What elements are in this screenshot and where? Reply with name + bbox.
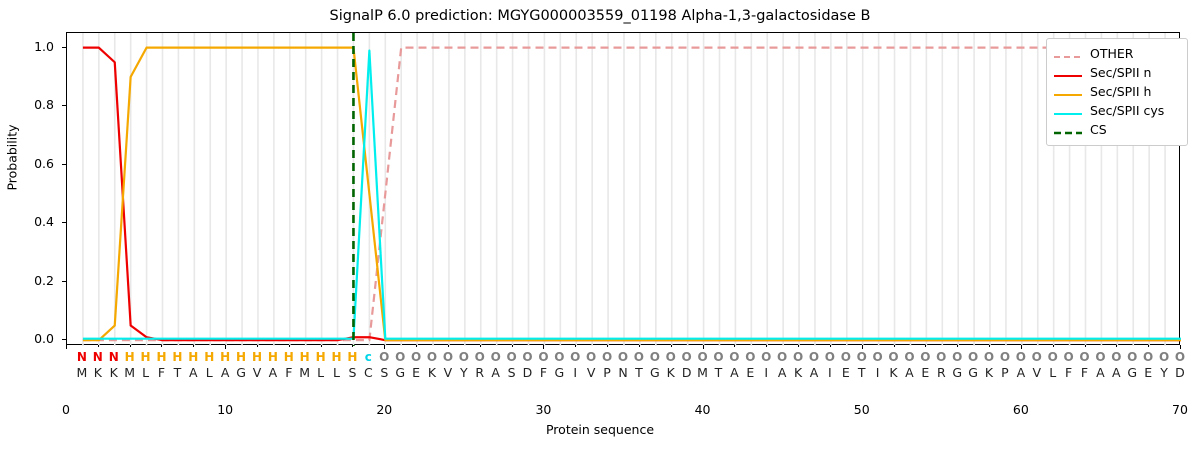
sequence-residue: M [297,365,313,380]
signalp-prediction-figure: SignalP 6.0 prediction: MGYG000003559_01… [0,0,1200,450]
region-marker: O [822,350,838,364]
x-tick-minor [607,345,608,347]
x-tick-minor [925,345,926,347]
region-marker: H [201,350,217,364]
x-tick-mark [384,345,385,349]
y-tick-label: 0.2 [8,273,54,288]
region-marker: O [679,350,695,364]
sequence-residue: G [233,365,249,380]
x-tick-minor [894,345,895,347]
x-tick-mark [66,345,67,349]
sequence-residue: G [949,365,965,380]
x-tick-minor [957,345,958,347]
sequence-residue: E [742,365,758,380]
x-axis-label: Protein sequence [0,422,1200,437]
x-tick-mark [1021,345,1022,349]
x-tick-mark [543,345,544,349]
legend-swatch-cs [1053,124,1083,136]
x-tick-minor [321,345,322,347]
x-tick-minor [98,345,99,347]
region-marker: O [695,350,711,364]
sequence-residue: P [997,365,1013,380]
sequence-residue: I [758,365,774,380]
x-tick-minor [257,345,258,347]
sequence-residue: L [329,365,345,380]
sequence-residue: M [695,365,711,380]
region-marker: O [1172,350,1188,364]
sequence-residue: T [631,365,647,380]
y-tick-mark [62,164,66,165]
x-tick-mark [862,345,863,349]
x-tick-minor [416,345,417,347]
series-sec-spii-h [83,48,1181,341]
region-marker: O [504,350,520,364]
region-marker: O [440,350,456,364]
sequence-residue: L [138,365,154,380]
legend-label-secspii-n: Sec/SPII n [1090,65,1151,80]
x-tick-minor [798,345,799,347]
region-marker: H [281,350,297,364]
sequence-residue: K [981,365,997,380]
region-marker: O [599,350,615,364]
region-marker: O [965,350,981,364]
region-marker: O [1029,350,1045,364]
legend-item-secspii-h[interactable]: Sec/SPII h [1053,82,1181,101]
y-tick-mark [62,222,66,223]
region-marker: O [551,350,567,364]
sequence-residue: D [679,365,695,380]
legend-swatch-secspii-n [1053,67,1083,79]
sequence-residue: A [1013,365,1029,380]
sequence-residue: K [424,365,440,380]
sequence-residue: A [1108,365,1124,380]
legend-item-other[interactable]: OTHER [1053,44,1181,63]
region-marker: O [456,350,472,364]
sequence-residue: C [360,365,376,380]
x-tick-minor [575,345,576,347]
legend-label-other: OTHER [1090,46,1133,61]
region-marker: O [392,350,408,364]
region-marker: H [313,350,329,364]
region-marker: H [265,350,281,364]
y-tick-mark [62,281,66,282]
sequence-residue: D [1172,365,1188,380]
sequence-residue: G [647,365,663,380]
protein-sequence-row: MKKMLFTALAGVAFMLLSCSGEKVYRASDFGIVPNTGKDM… [66,365,1180,380]
sequence-residue: A [185,365,201,380]
region-marker: O [981,350,997,364]
sequence-residue: F [1061,365,1077,380]
region-marker: O [1013,350,1029,364]
x-tick-mark [703,345,704,349]
region-marker: O [742,350,758,364]
sequence-residue: I [870,365,886,380]
sequence-residue: K [790,365,806,380]
chart-canvas [67,33,1181,346]
sequence-residue: S [376,365,392,380]
x-tick-label: 60 [1001,402,1041,417]
region-marker: O [758,350,774,364]
legend-label-secspii-h: Sec/SPII h [1090,84,1151,99]
region-marker: O [1156,350,1172,364]
plot-area [66,32,1180,345]
y-tick-label: 1.0 [8,39,54,54]
region-marker: O [726,350,742,364]
region-marker: O [472,350,488,364]
sequence-residue: V [249,365,265,380]
legend-item-secspii-n[interactable]: Sec/SPII n [1053,63,1181,82]
sequence-residue: T [854,365,870,380]
sequence-residue: E [408,365,424,380]
sequence-residue: S [344,365,360,380]
region-marker: N [90,350,106,364]
sequence-residue: R [933,365,949,380]
x-tick-mark [225,345,226,349]
x-tick-minor [639,345,640,347]
sequence-residue: I [567,365,583,380]
x-tick-label: 10 [205,402,245,417]
region-marker: O [1077,350,1093,364]
region-marker: O [790,350,806,364]
sequence-residue: A [217,365,233,380]
x-tick-label: 0 [46,402,86,417]
region-marker: H [169,350,185,364]
sequence-residue: K [90,365,106,380]
sequence-residue: T [710,365,726,380]
region-marker: H [249,350,265,364]
x-tick-minor [671,345,672,347]
legend-swatch-secspii-h [1053,86,1083,98]
region-marker: H [344,350,360,364]
region-marker: O [870,350,886,364]
region-marker: O [1108,350,1124,364]
region-marker: O [710,350,726,364]
region-marker: O [854,350,870,364]
series-sec-spii-n [83,48,1181,341]
sequence-residue: M [122,365,138,380]
sequence-residue: V [583,365,599,380]
region-marker: O [663,350,679,364]
region-marker: O [424,350,440,364]
x-tick-minor [830,345,831,347]
region-marker: O [615,350,631,364]
sequence-residue: E [1140,365,1156,380]
legend-label-secspii-cys: Sec/SPII cys [1090,103,1164,118]
x-tick-minor [1116,345,1117,347]
sequence-residue: A [726,365,742,380]
x-tick-minor [480,345,481,347]
sequence-residue: S [504,365,520,380]
sequence-residue: L [201,365,217,380]
legend: OTHER Sec/SPII n Sec/SPII h Sec/SPII cys… [1046,38,1188,146]
sequence-residue: M [74,365,90,380]
region-marker: H [217,350,233,364]
sequence-residue: V [440,365,456,380]
sequence-residue: E [838,365,854,380]
sequence-residue: F [281,365,297,380]
sequence-residue: P [599,365,615,380]
region-marker: O [917,350,933,364]
region-marker: O [806,350,822,364]
sequence-residue: L [313,365,329,380]
y-tick-mark [62,47,66,48]
x-tick-label: 50 [842,402,882,417]
sequence-residue: Y [1156,365,1172,380]
region-marker: O [535,350,551,364]
sequence-residue: A [901,365,917,380]
region-marker: c [360,350,376,364]
sequence-residue: A [265,365,281,380]
sequence-residue: F [1077,365,1093,380]
x-tick-label: 30 [523,402,563,417]
x-tick-minor [1148,345,1149,347]
y-tick-label: 0.8 [8,97,54,112]
region-marker: H [138,350,154,364]
sequence-residue: G [1124,365,1140,380]
region-marker: O [886,350,902,364]
y-tick-label: 0.6 [8,156,54,171]
y-tick-label: 0.0 [8,331,54,346]
region-marker: O [583,350,599,364]
chart-title: SignalP 6.0 prediction: MGYG000003559_01… [0,8,1200,24]
x-tick-minor [734,345,735,347]
sequence-residue: F [535,365,551,380]
region-marker: O [1045,350,1061,364]
x-tick-minor [289,345,290,347]
sequence-residue: T [169,365,185,380]
y-tick-label: 0.4 [8,214,54,229]
sequence-residue: F [153,365,169,380]
sequence-residue: Y [456,365,472,380]
region-marker: O [997,350,1013,364]
region-marker: O [567,350,583,364]
x-tick-minor [1085,345,1086,347]
sequence-residue: G [392,365,408,380]
x-tick-minor [512,345,513,347]
x-tick-minor [1053,345,1054,347]
region-marker: O [949,350,965,364]
region-marker: O [1124,350,1140,364]
region-marker: O [520,350,536,364]
series-other [83,48,1181,341]
sequence-residue: K [106,365,122,380]
legend-swatch-secspii-cys [1053,105,1083,117]
region-marker: O [631,350,647,364]
region-marker: O [647,350,663,364]
data-series-group [83,33,1181,346]
y-tick-mark [62,339,66,340]
region-marker: O [376,350,392,364]
y-tick-mark [62,105,66,106]
x-tick-minor [130,345,131,347]
region-marker: O [933,350,949,364]
x-tick-label: 20 [364,402,404,417]
x-tick-minor [352,345,353,347]
region-marker: H [329,350,345,364]
region-marker: O [488,350,504,364]
region-marker: H [122,350,138,364]
region-marker: O [1092,350,1108,364]
region-marker: H [185,350,201,364]
sequence-residue: G [965,365,981,380]
sequence-residue: N [615,365,631,380]
sequence-residue: A [774,365,790,380]
series-sec-spii-cys [83,51,1181,339]
sequence-residue: A [1092,365,1108,380]
x-tick-minor [193,345,194,347]
region-marker: N [74,350,90,364]
region-marker: O [774,350,790,364]
x-tick-label: 40 [683,402,723,417]
region-marker: H [233,350,249,364]
region-marker: O [901,350,917,364]
sequence-residue: D [520,365,536,380]
region-marker: H [297,350,313,364]
x-tick-mark [1180,345,1181,349]
sequence-residue: K [886,365,902,380]
gridlines [83,33,1165,346]
region-marker: O [408,350,424,364]
sequence-residue: R [472,365,488,380]
x-tick-minor [161,345,162,347]
x-tick-label: 70 [1160,402,1200,417]
region-marker: O [1140,350,1156,364]
sequence-residue: A [488,365,504,380]
x-tick-minor [766,345,767,347]
legend-item-cs[interactable]: CS [1053,120,1181,139]
x-tick-minor [989,345,990,347]
region-marker: H [153,350,169,364]
sequence-residue: L [1045,365,1061,380]
region-marker: N [106,350,122,364]
sequence-residue: E [917,365,933,380]
sequence-residue: A [806,365,822,380]
region-marker: O [838,350,854,364]
sequence-residue: I [822,365,838,380]
sequence-residue: K [663,365,679,380]
region-marker: O [1061,350,1077,364]
legend-swatch-other [1053,48,1083,60]
legend-label-cs: CS [1090,122,1107,137]
sequence-residue: V [1029,365,1045,380]
sequence-residue: G [551,365,567,380]
x-tick-minor [448,345,449,347]
region-annotation-row: NNNHHHHHHHHHHHHHHHcOOOOOOOOOOOOOOOOOOOOO… [66,350,1180,365]
legend-item-secspii-cys[interactable]: Sec/SPII cys [1053,101,1181,120]
